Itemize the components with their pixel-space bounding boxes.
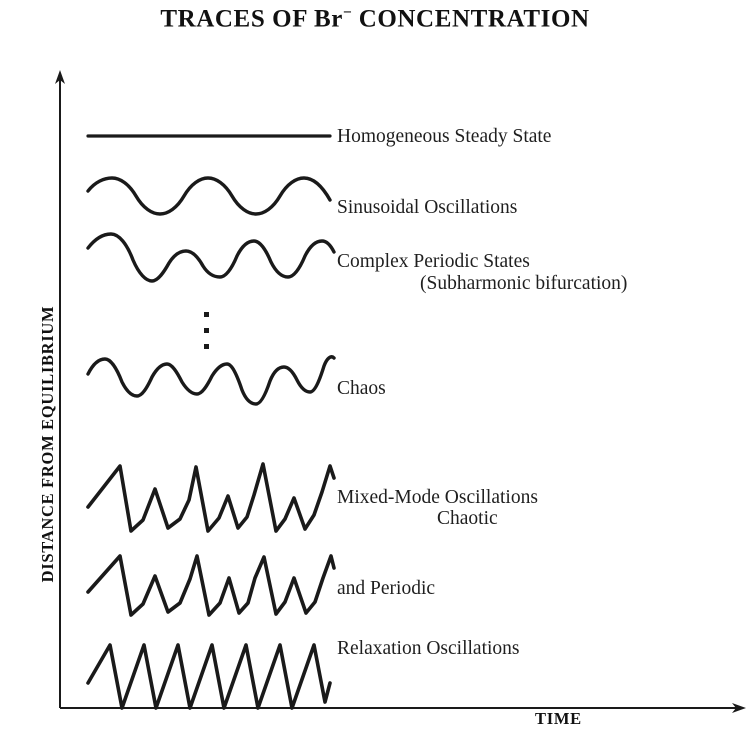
trace-label-and-periodic: and Periodic [337, 578, 435, 600]
trace-relaxation-oscillations [88, 645, 330, 708]
ellipsis-dot-2 [204, 328, 209, 333]
vertical-ellipsis-dots [204, 312, 209, 349]
trace-sinusoidal-oscillations [88, 178, 330, 214]
y-axis-label: DISTANCE FROM EQUILIBRIUM [38, 244, 58, 644]
trace-label-homogeneous-steady-state: Homogeneous Steady State [337, 126, 551, 148]
trace-sublabel-subharmonic-bifurcation: (Subharmonic bifurcation) [420, 273, 627, 295]
ellipsis-dot-3 [204, 344, 209, 349]
trace-label-chaos: Chaos [337, 378, 386, 400]
ellipsis-dot-1 [204, 312, 209, 317]
trace-label-mixed-mode-oscillations: Mixed-Mode Oscillations [337, 487, 538, 509]
trace-mixed-mode-chaotic [88, 464, 334, 531]
figure-canvas: TRACES OF Br− CONCENTRATION [0, 0, 750, 735]
trace-label-complex-periodic-states: Complex Periodic States [337, 251, 530, 273]
trace-label-sinusoidal-oscillations: Sinusoidal Oscillations [337, 197, 517, 219]
trace-sublabel-chaotic: Chaotic [437, 508, 498, 530]
trace-mixed-mode-periodic [88, 556, 334, 615]
trace-complex-periodic-states [88, 234, 334, 281]
traces-plot [0, 0, 750, 735]
x-axis-label: TIME [535, 709, 582, 729]
trace-chaos [88, 357, 334, 404]
trace-label-relaxation-oscillations: Relaxation Oscillations [337, 638, 520, 660]
axis-group [55, 70, 746, 713]
